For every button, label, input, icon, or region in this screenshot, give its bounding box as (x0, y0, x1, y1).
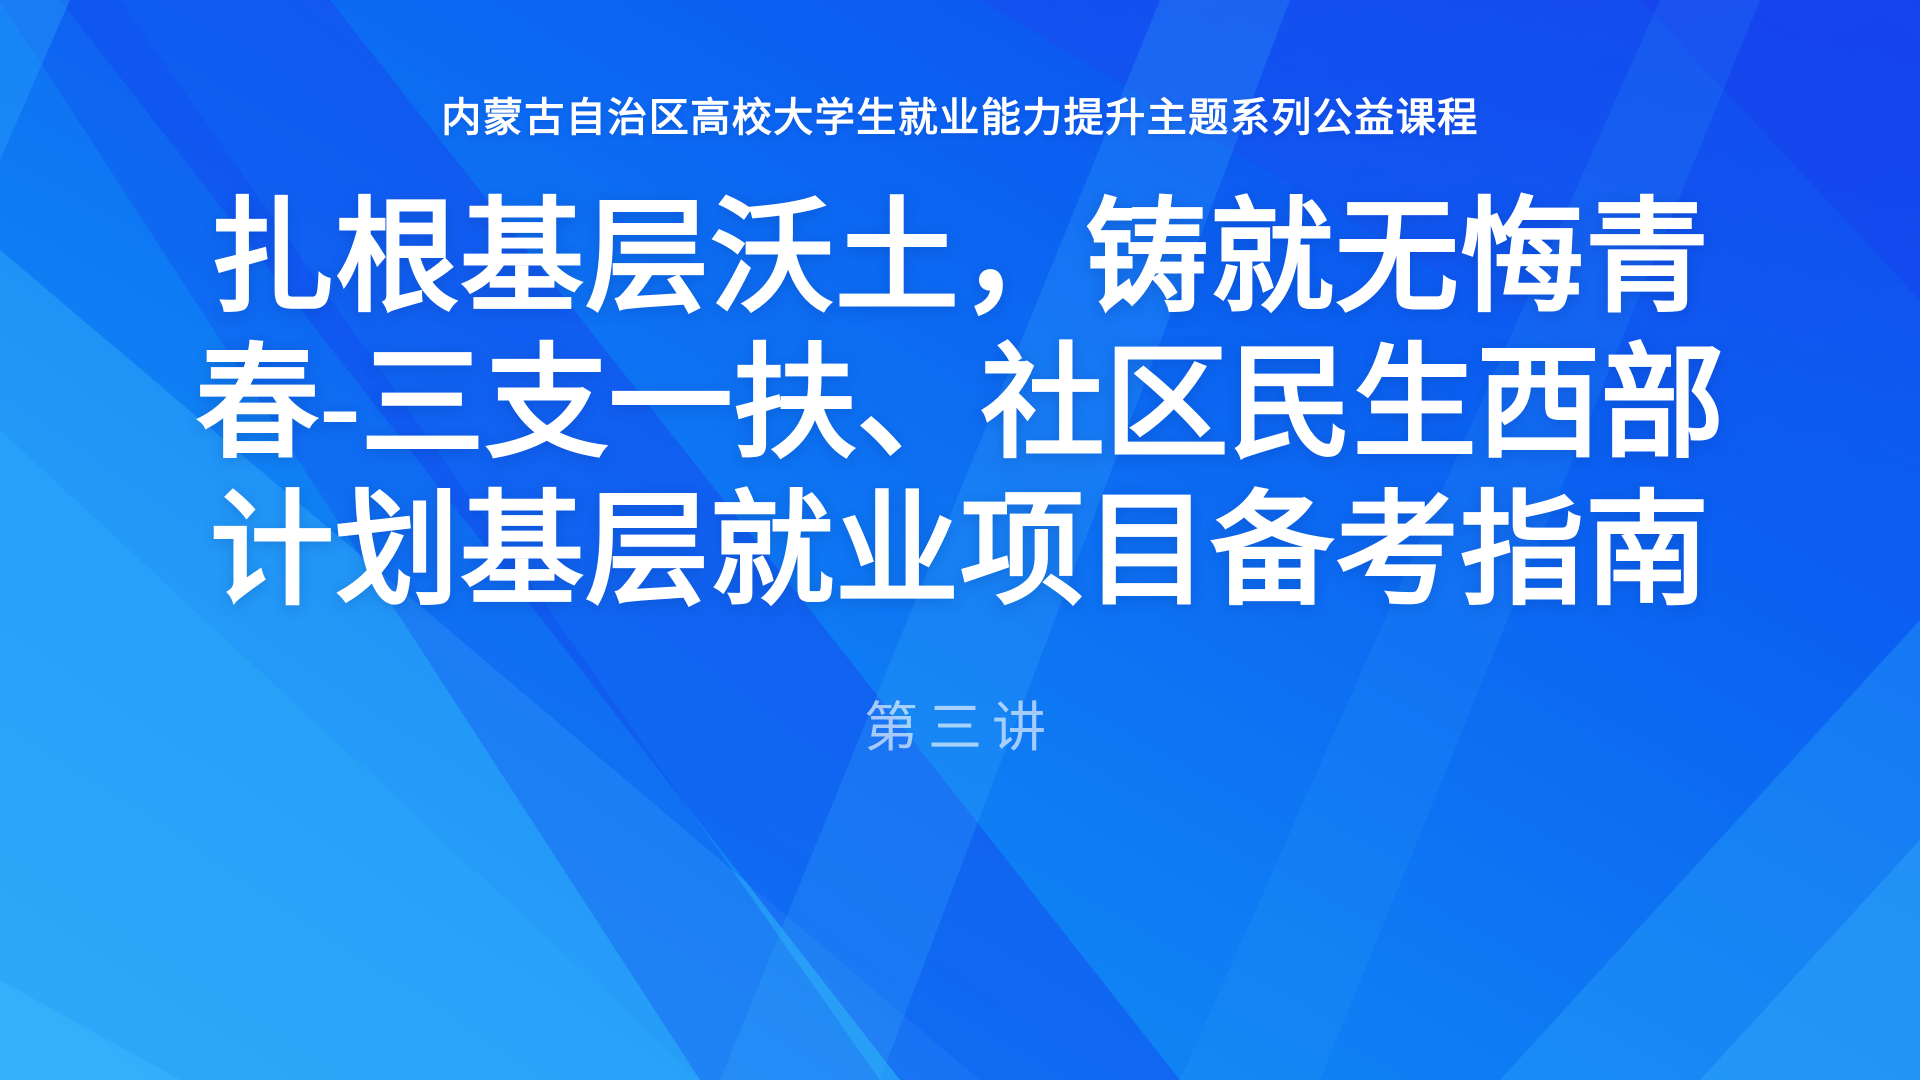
slide-content: 内蒙古自治区高校大学生就业能力提升主题系列公益课程 扎根基层沃土，铸就无悔青 春… (0, 0, 1920, 1080)
course-series-heading: 内蒙古自治区高校大学生就业能力提升主题系列公益课程 (441, 96, 1479, 140)
main-title: 扎根基层沃土，铸就无悔青 春-三支一扶、社区民生西部 计划基层就业项目备考指南 (60, 186, 1860, 625)
main-title-line-3: 计划基层就业项目备考指南 (60, 479, 1860, 625)
main-title-line-1: 扎根基层沃土，铸就无悔青 (60, 186, 1860, 332)
lecture-number-label: 第三讲 (864, 683, 1056, 762)
main-title-line-2: 春-三支一扶、社区民生西部 (60, 332, 1860, 478)
title-slide: 内蒙古自治区高校大学生就业能力提升主题系列公益课程 扎根基层沃土，铸就无悔青 春… (0, 0, 1920, 1080)
